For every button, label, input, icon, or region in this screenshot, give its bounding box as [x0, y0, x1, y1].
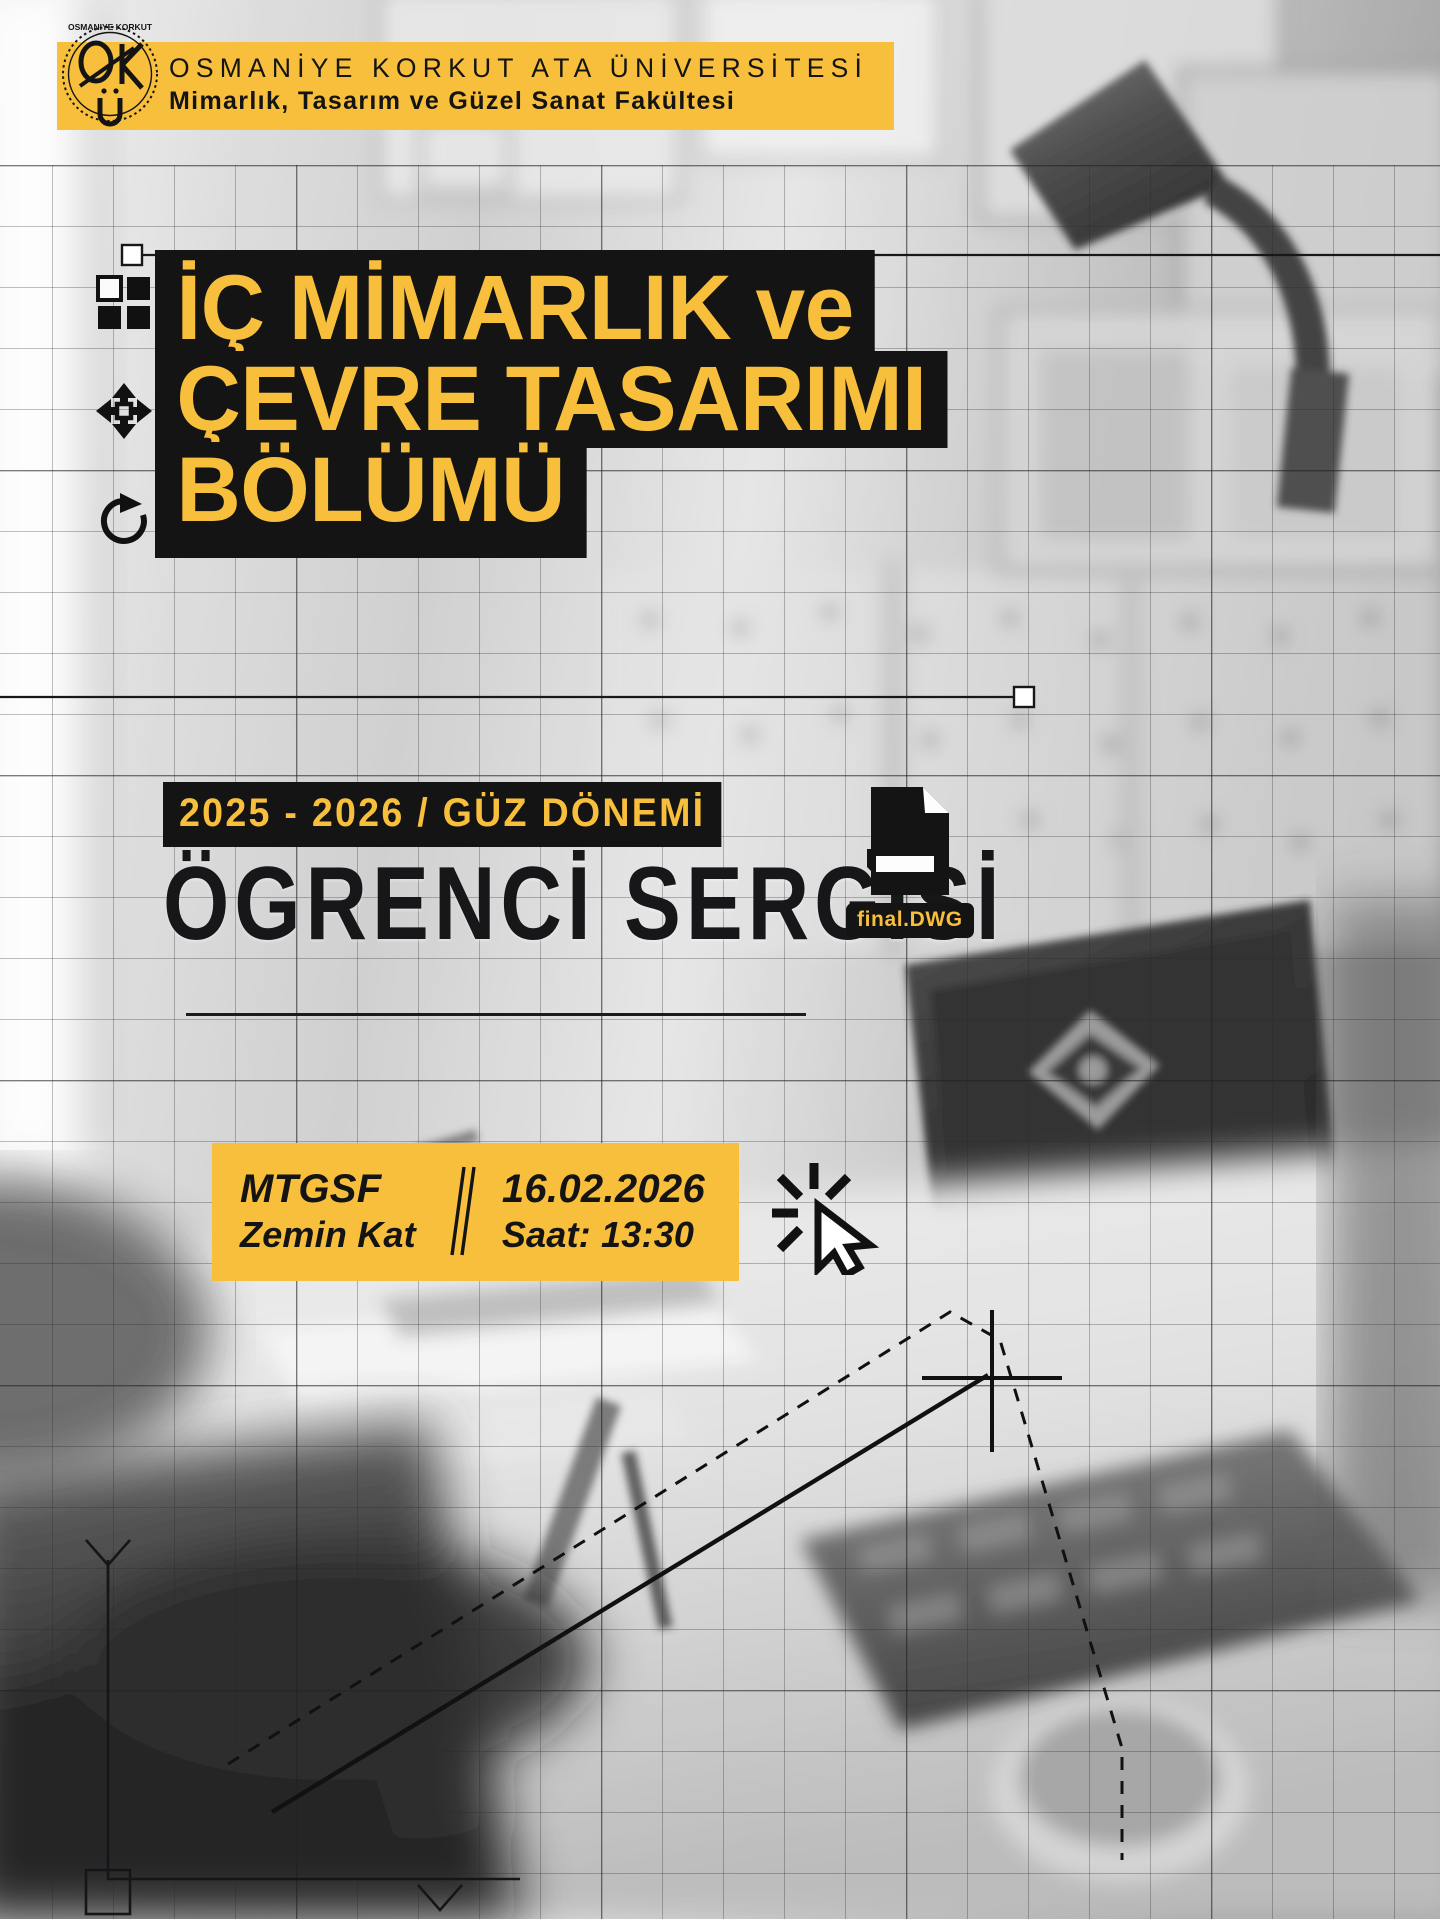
cad-tool-icon-strip	[96, 275, 152, 599]
term-label: 2025 - 2026 / GÜZ DÖNEMİ	[163, 782, 721, 847]
dwg-filename-label: final.DWG	[846, 903, 974, 938]
university-name: OSMANİYE KORKUT ATA ÜNİVERSİTESİ	[169, 52, 868, 85]
poster-canvas: OSMANIYE KORKUT OSMANİYE KORKUT ATA ÜNİV…	[0, 0, 1440, 1919]
venue-name: MTGSF	[240, 1166, 416, 1213]
venue-floor: Zemin Kat	[240, 1213, 416, 1256]
rotate-icon	[96, 491, 152, 547]
venue-column: MTGSF Zemin Kat	[240, 1166, 416, 1256]
header-bar: OSMANİYE KORKUT ATA ÜNİVERSİTESİ Mimarlı…	[57, 42, 894, 130]
grid-four-squares-icon	[96, 275, 152, 331]
move-four-arrows-icon	[96, 383, 152, 439]
event-date: 16.02.2026	[502, 1166, 705, 1213]
title-line-2: ÇEVRE TASARIMI	[155, 351, 948, 448]
university-logo: OSMANIYE KORKUT	[56, 18, 164, 136]
main-title: İÇ MİMARLIK ve ÇEVRE TASARIMI BÖLÜMÜ	[155, 250, 972, 558]
title-line-1: İÇ MİMARLIK ve	[155, 250, 875, 357]
title-line-1-main: İÇ MİMARLIK	[176, 257, 731, 359]
event-info-box: MTGSF Zemin Kat 16.02.2026 Saat: 13:30	[212, 1143, 739, 1281]
logo-ring-text-top: OSMANIYE KORKUT	[68, 22, 153, 32]
datetime-column: 16.02.2026 Saat: 13:30	[502, 1166, 705, 1256]
title-line-3: BÖLÜMÜ	[155, 442, 586, 557]
title-line-1-conjunction: ve	[755, 257, 853, 359]
headline-underline-rule	[186, 1013, 806, 1016]
dwg-file-badge: final.DWG	[860, 785, 960, 938]
event-time: Saat: 13:30	[502, 1213, 705, 1256]
dwg-file-icon	[867, 785, 953, 897]
double-slash-separator-icon	[442, 1165, 476, 1257]
arrow-click-cursor-icon	[770, 1155, 880, 1275]
faculty-name: Mimarlık, Tasarım ve Güzel Sanat Fakülte…	[169, 85, 868, 118]
